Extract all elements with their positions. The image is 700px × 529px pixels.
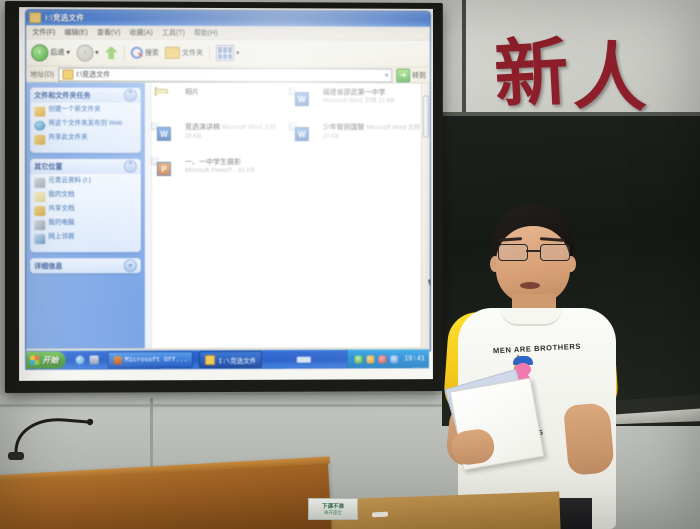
taskbar[interactable]: 开始 Microsoft Off... I:\竞选文件 — [25, 349, 429, 370]
network-icon — [34, 234, 45, 244]
place-label: 网上邻居 — [48, 233, 74, 241]
forward-button[interactable]: › ▾ — [76, 44, 99, 61]
file-type: Microsoft Word 文档 — [323, 99, 377, 105]
search-button[interactable]: 搜索 — [131, 47, 159, 59]
menu-item-tools[interactable]: 工具(T) — [162, 27, 185, 37]
sidebar-item-my-computer[interactable]: 我的电脑 — [34, 219, 137, 230]
place-label: 我的电脑 — [48, 219, 74, 227]
explorer-window[interactable]: I:\竞选文件 文件(F) 编辑(E) 查看(V) 收藏(A) 工具(T) 帮助… — [25, 9, 431, 353]
place-label: 共享文档 — [48, 205, 74, 213]
system-tray[interactable]: 19:41 — [347, 349, 429, 368]
sidebar-item-shared-documents[interactable]: 共享文档 — [34, 205, 137, 216]
forward-dropdown-caret[interactable]: ▾ — [95, 49, 99, 57]
panel-title: 其它位置 — [34, 161, 62, 171]
desk-sign-line-1: 下课不准 — [322, 502, 344, 510]
go-button[interactable]: ➜ 转到 — [396, 68, 426, 82]
folder-icon — [155, 88, 181, 114]
projection-screen-surface: I:\竞选文件 文件(F) 编辑(E) 查看(V) 收藏(A) 工具(T) 帮助… — [19, 7, 433, 381]
file-item-speech-doc[interactable]: W 竞选演讲稿 Microsoft Word 文档 20 KB — [155, 123, 285, 149]
network-tray-icon[interactable] — [378, 355, 386, 363]
file-item-photography-ppt[interactable]: P 一、一中学生摄影 Microsoft PowerP... 81 KB — [155, 158, 285, 184]
sidebar-task-new-folder[interactable]: 创建一个新文件夹 — [34, 106, 137, 117]
go-button-label: 转到 — [412, 70, 426, 80]
sidebar-item-drive-i[interactable]: 元青云资料 (I:) — [34, 177, 137, 188]
powerpoint-icon — [114, 356, 122, 364]
file-name: 福建省邵武第一中学 — [323, 89, 386, 96]
menu-bar[interactable]: 文件(F) 编辑(E) 查看(V) 收藏(A) 工具(T) 帮助(H) — [26, 25, 430, 41]
panel-details: 详细信息 ⌄ — [30, 258, 141, 273]
vertical-scrollbar[interactable] — [421, 84, 430, 348]
views-icon — [216, 45, 234, 61]
chevron-up-icon[interactable]: ⌃ — [124, 160, 137, 173]
menu-item-file[interactable]: 文件(F) — [32, 27, 55, 37]
folders-button[interactable]: 文件夹 — [165, 47, 203, 59]
drive-icon — [34, 178, 45, 188]
volume-icon[interactable] — [390, 355, 398, 363]
panel-body: 创建一个新文件夹 将这个文件夹发布到 Web 共享此文件夹 — [30, 103, 141, 153]
scrollbar-thumb[interactable] — [423, 95, 429, 137]
file-list-pane[interactable]: 相片 W 福建省邵武第一中学 Microsoft Word — [145, 83, 430, 348]
panel-body: 元青云资料 (I:) 我的文档 共享文档 — [30, 174, 141, 252]
desk-sign-plate: 下课不准 离开座位 — [308, 498, 358, 520]
arm-right — [563, 402, 615, 476]
word-document-icon: W — [293, 88, 319, 114]
glasses-bridge — [526, 250, 540, 252]
toolbar-separator — [209, 45, 210, 61]
quick-launch-bar[interactable] — [69, 355, 104, 364]
back-button-label: 后退 — [50, 47, 64, 57]
views-dropdown-caret[interactable]: ▾ — [236, 49, 240, 57]
taskbar-button-powerpoint[interactable]: Microsoft Off... — [108, 351, 194, 368]
file-type: Microsoft Word 文档 — [366, 125, 419, 131]
my-computer-icon — [34, 220, 45, 230]
toolbar[interactable]: ‹ 后退 ▾ › ▾ — [26, 39, 430, 67]
publish-web-icon — [34, 121, 45, 131]
place-label: 元青云资料 (I:) — [48, 177, 91, 185]
microphone-base — [8, 452, 24, 460]
file-item-youth-doc[interactable]: W 少年智则国智 Microsoft Word 文档 20 KB — [293, 123, 422, 149]
search-button-label: 搜索 — [145, 48, 159, 58]
share-folder-icon — [34, 135, 45, 145]
panel-header[interactable]: 其它位置 ⌃ — [30, 159, 141, 174]
taskbar-button-explorer[interactable]: I:\竞选文件 — [199, 351, 262, 368]
file-size: 21 KB — [378, 99, 394, 105]
start-button-label: 开始 — [42, 355, 58, 366]
file-item-folder-photos[interactable]: 相片 — [155, 88, 285, 114]
minimized-window-placeholder[interactable] — [297, 356, 311, 362]
file-item-fujian-doc[interactable]: W 福建省邵武第一中学 Microsoft Word 文档 21 KB — [293, 88, 422, 114]
task-label: 共享此文件夹 — [48, 134, 87, 142]
my-documents-icon — [34, 192, 45, 202]
address-bar[interactable]: 地址(D) I:\竞选文件 ▾ ➜ 转到 — [26, 66, 430, 83]
start-button[interactable]: 开始 — [26, 352, 65, 369]
shirt-collar — [500, 308, 562, 326]
powerpoint-document-icon: P — [155, 158, 181, 184]
chevron-up-icon[interactable]: ⌃ — [124, 89, 137, 102]
panel-title: 详细信息 — [34, 261, 62, 271]
folder-icon — [205, 355, 215, 365]
taskbar-button-label: I:\竞选文件 — [218, 354, 256, 364]
word-document-icon: W — [155, 123, 181, 149]
task-sidebar: 文件和文件夹任务 ⌃ 创建一个新文件夹 — [26, 82, 145, 348]
panel-file-folder-tasks: 文件和文件夹任务 ⌃ 创建一个新文件夹 — [30, 88, 141, 153]
taskbar-button-label: Microsoft Off... — [125, 356, 188, 363]
presenter: MEN ARE BROTHERS DOI-WUSONG — [440, 198, 690, 529]
file-name: 少年智则国智 — [323, 124, 365, 131]
antivirus-icon[interactable] — [355, 355, 363, 363]
go-arrow-icon: ➜ — [396, 68, 410, 82]
panel-header[interactable]: 详细信息 ⌄ — [30, 258, 141, 273]
back-arrow-icon: ‹ — [31, 44, 48, 61]
file-name: 相片 — [185, 89, 199, 96]
file-type: Microsoft PowerP... — [185, 168, 236, 174]
lens-right — [540, 244, 570, 261]
microphone-gooseneck — [12, 408, 100, 454]
new-folder-icon — [34, 107, 45, 117]
up-folder-icon — [105, 46, 118, 59]
search-icon — [131, 47, 143, 59]
sidebar-item-network[interactable]: 网上邻居 — [34, 233, 137, 244]
address-value: I:\竞选文件 — [76, 69, 110, 79]
lens-left — [498, 244, 528, 261]
file-type: Microsoft Word 文档 — [222, 125, 276, 131]
toolbar-separator — [124, 45, 125, 61]
address-input[interactable]: I:\竞选文件 ▾ — [58, 67, 392, 82]
forward-arrow-icon: › — [76, 44, 93, 61]
task-label: 创建一个新文件夹 — [48, 106, 100, 114]
file-name: 一、一中学生摄影 — [185, 159, 241, 166]
projection-screen-frame: I:\竞选文件 文件(F) 编辑(E) 查看(V) 收藏(A) 工具(T) 帮助… — [5, 1, 443, 393]
mouth — [520, 282, 540, 289]
file-grid: 相片 W 福建省邵武第一中学 Microsoft Word — [151, 88, 426, 193]
word-document-icon: W — [293, 123, 319, 149]
show-desktop-icon[interactable] — [90, 355, 99, 364]
task-label: 将这个文件夹发布到 Web — [48, 120, 122, 128]
window-body: 文件和文件夹任务 ⌃ 创建一个新文件夹 — [26, 82, 430, 348]
chevron-down-icon[interactable]: ▾ — [385, 71, 388, 79]
wall-seam-horizontal — [0, 404, 450, 407]
place-label: 我的文档 — [48, 191, 74, 199]
sidebar-task-share-folder[interactable]: 共享此文件夹 — [34, 134, 137, 145]
address-label: 地址(D) — [30, 69, 54, 79]
folder-icon — [165, 47, 180, 59]
back-dropdown-caret[interactable]: ▾ — [66, 48, 70, 56]
panel-other-places: 其它位置 ⌃ 元青云资料 (I:) — [30, 159, 141, 252]
file-size: 20 KB — [323, 134, 339, 140]
sidebar-item-my-documents[interactable]: 我的文档 — [34, 191, 137, 202]
file-name: 竞选演讲稿 — [185, 124, 220, 131]
panel-title: 文件和文件夹任务 — [34, 90, 90, 100]
folders-button-label: 文件夹 — [182, 48, 203, 58]
up-button[interactable] — [105, 46, 118, 59]
windows-flag-icon — [30, 356, 39, 365]
menu-item-favorites[interactable]: 收藏(A) — [129, 27, 152, 37]
shared-documents-icon — [34, 206, 45, 216]
folder-icon — [29, 12, 41, 23]
classroom-photo: 新 人 I:\竞选文件 文件(F) 编辑(E) 查看(V) 收 — [0, 0, 700, 529]
views-button[interactable]: ▾ — [216, 45, 240, 61]
wall-sign-char-2: 人 — [572, 17, 650, 127]
back-button[interactable]: ‹ 后退 ▾ — [31, 44, 70, 61]
internet-explorer-icon[interactable] — [76, 356, 85, 365]
chevron-down-icon[interactable]: ⌄ — [124, 259, 137, 272]
desk-sign-line-2: 离开座位 — [324, 510, 342, 516]
sidebar-task-publish-web[interactable]: 将这个文件夹发布到 Web — [34, 120, 137, 131]
panel-header[interactable]: 文件和文件夹任务 ⌃ — [30, 88, 141, 103]
menu-item-view[interactable]: 查看(V) — [97, 27, 120, 37]
input-method-icon[interactable] — [366, 355, 374, 363]
window-titlebar[interactable]: I:\竞选文件 — [26, 10, 430, 27]
file-size: 20 KB — [185, 133, 201, 139]
chalk-piece — [372, 512, 388, 518]
folder-icon — [62, 69, 73, 79]
wall-sign-char-1: 新 — [491, 12, 570, 123]
taskbar-clock[interactable]: 19:41 — [402, 355, 425, 363]
window-title: I:\竞选文件 — [45, 12, 84, 23]
menu-item-edit[interactable]: 编辑(E) — [64, 27, 88, 37]
glasses-icon — [496, 244, 572, 259]
menu-item-help[interactable]: 帮助(H) — [194, 27, 218, 37]
file-size: 81 KB — [238, 168, 254, 174]
